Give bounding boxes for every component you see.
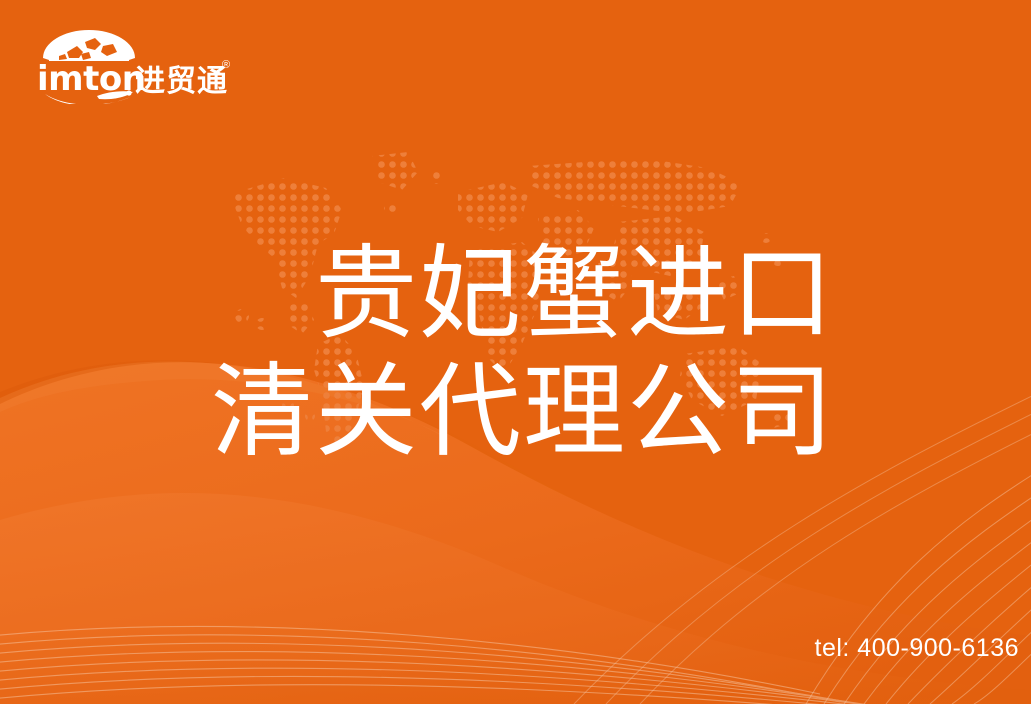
promo-banner: imton 进贸通 ® 贵妃蟹进口 清关代理公司 tel: 400-900-61… xyxy=(0,0,1031,704)
brand-logo[interactable]: imton 进贸通 ® xyxy=(37,28,217,104)
globe-swoosh-icon: imton xyxy=(37,28,147,104)
logo-chinese-text: 进贸通 xyxy=(135,67,228,97)
trademark-symbol: ® xyxy=(222,60,230,71)
contact-phone: tel: 400-900-6136 xyxy=(815,634,1019,662)
headline-line-2: 清关代理公司 xyxy=(0,354,835,472)
headline: 贵妃蟹进口 清关代理公司 xyxy=(0,236,1031,472)
headline-line-1: 贵妃蟹进口 xyxy=(0,236,835,354)
